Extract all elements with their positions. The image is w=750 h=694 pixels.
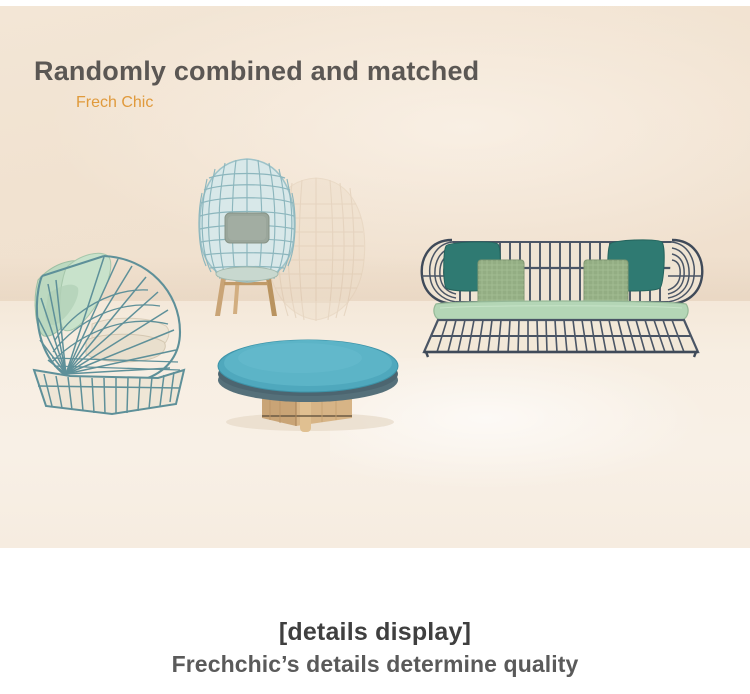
round-ottoman — [200, 322, 416, 432]
caption-heading: [details display] — [0, 618, 750, 647]
caption-block: [details display] Frechchic’s details de… — [0, 548, 750, 694]
sofa-right-arm — [668, 240, 702, 304]
high-back-chair-center — [186, 156, 308, 321]
page-subtitle: Frech Chic — [76, 94, 153, 112]
sofa-right — [416, 218, 708, 358]
chair-base — [34, 370, 184, 414]
chair-seat-cushion-cream — [86, 318, 169, 362]
chair-woven-shell — [199, 159, 295, 282]
page-title: Randomly combined and matched — [34, 56, 479, 87]
caption-subheading: Frechchic’s details determine quality — [0, 651, 750, 678]
hero-banner-image: Randomly combined and matched Frech Chic — [0, 6, 750, 548]
lounge-chair-left — [8, 228, 198, 418]
sofa-base-frame — [424, 320, 698, 357]
